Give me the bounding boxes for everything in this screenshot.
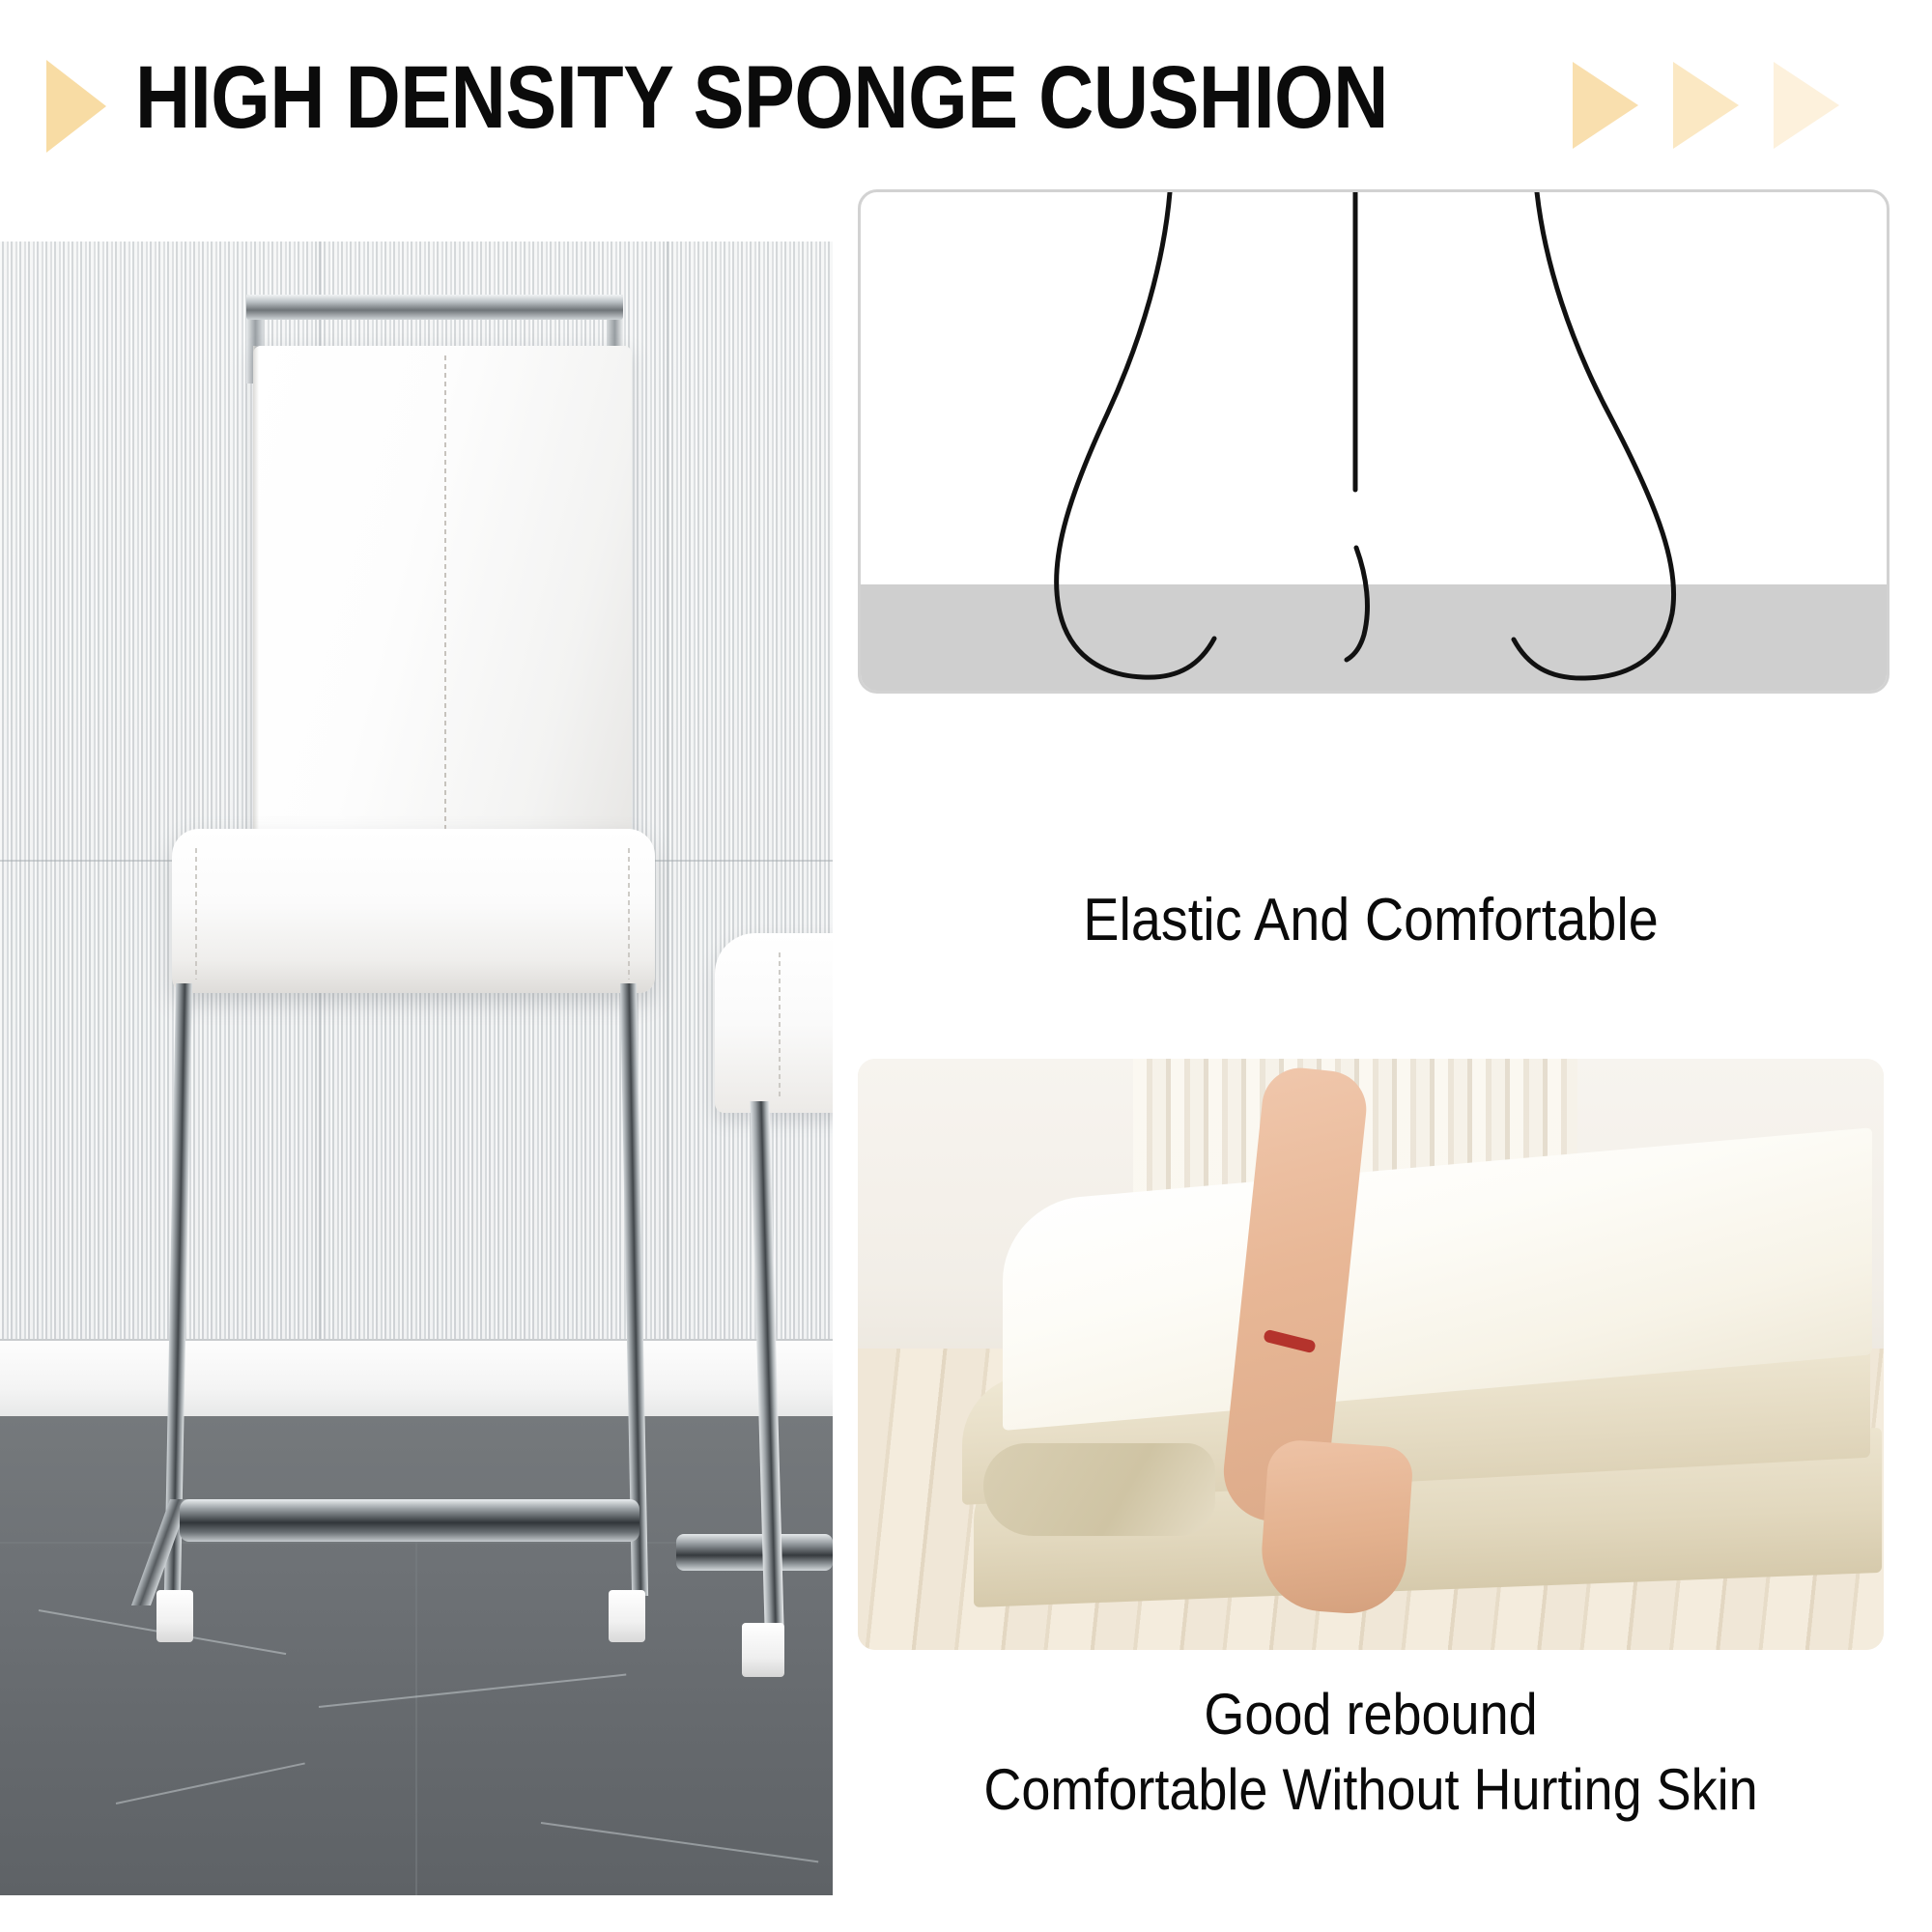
second-chair-sled-base: [676, 1534, 833, 1571]
chair-seat-stitching-left: [195, 848, 197, 980]
chair-top-rail: [246, 295, 623, 320]
foam-fold-curl: [983, 1443, 1215, 1536]
tile-grout-line: [415, 1542, 417, 1895]
tile-floor: [0, 1416, 833, 1895]
chair-backrest-edge: [253, 346, 259, 856]
hand-pressing-foam: [1258, 1438, 1414, 1617]
foam-caption: Good rebound Comfortable Without Hurting…: [909, 1677, 1833, 1828]
second-chair-seat: [715, 933, 833, 1113]
header-arrow-group: [1573, 62, 1882, 149]
baseboard: [0, 1339, 833, 1420]
page-header: HIGH DENSITY SPONGE CUSHION: [0, 0, 1932, 208]
chair-backrest-stitching: [444, 355, 446, 852]
chair-seat-cushion: [172, 829, 655, 993]
play-triangle-icon-1: [1573, 62, 1638, 149]
play-triangle-icon-3: [1774, 62, 1839, 149]
chair-foot-cap-right: [609, 1590, 645, 1642]
chair-foot-cap-left: [156, 1590, 193, 1642]
page-title: HIGH DENSITY SPONGE CUSHION: [135, 44, 1298, 151]
chair-backrest: [253, 346, 632, 856]
chair-sled-base: [180, 1499, 639, 1542]
marble-vein: [319, 1674, 626, 1708]
seated-body-silhouette-icon: [861, 192, 1887, 691]
foam-demo-photo: [858, 1059, 1884, 1650]
foam-caption-line-1: Good rebound: [909, 1677, 1833, 1752]
second-chair-stitching: [779, 952, 781, 1097]
play-triangle-icon-left: [46, 60, 106, 153]
diagram-caption: Elastic And Comfortable: [909, 885, 1833, 956]
wall-seam: [667, 241, 668, 1339]
chair-seat-stitching-right: [628, 848, 630, 980]
foam-caption-line-2: Comfortable Without Hurting Skin: [909, 1752, 1833, 1828]
marble-vein: [116, 1762, 305, 1804]
chair-product-photo: [0, 241, 833, 1895]
anatomy-diagram-card: [858, 189, 1889, 694]
marble-vein: [541, 1822, 818, 1862]
second-chair-foot-cap: [742, 1623, 784, 1677]
play-triangle-icon-2: [1673, 62, 1739, 149]
